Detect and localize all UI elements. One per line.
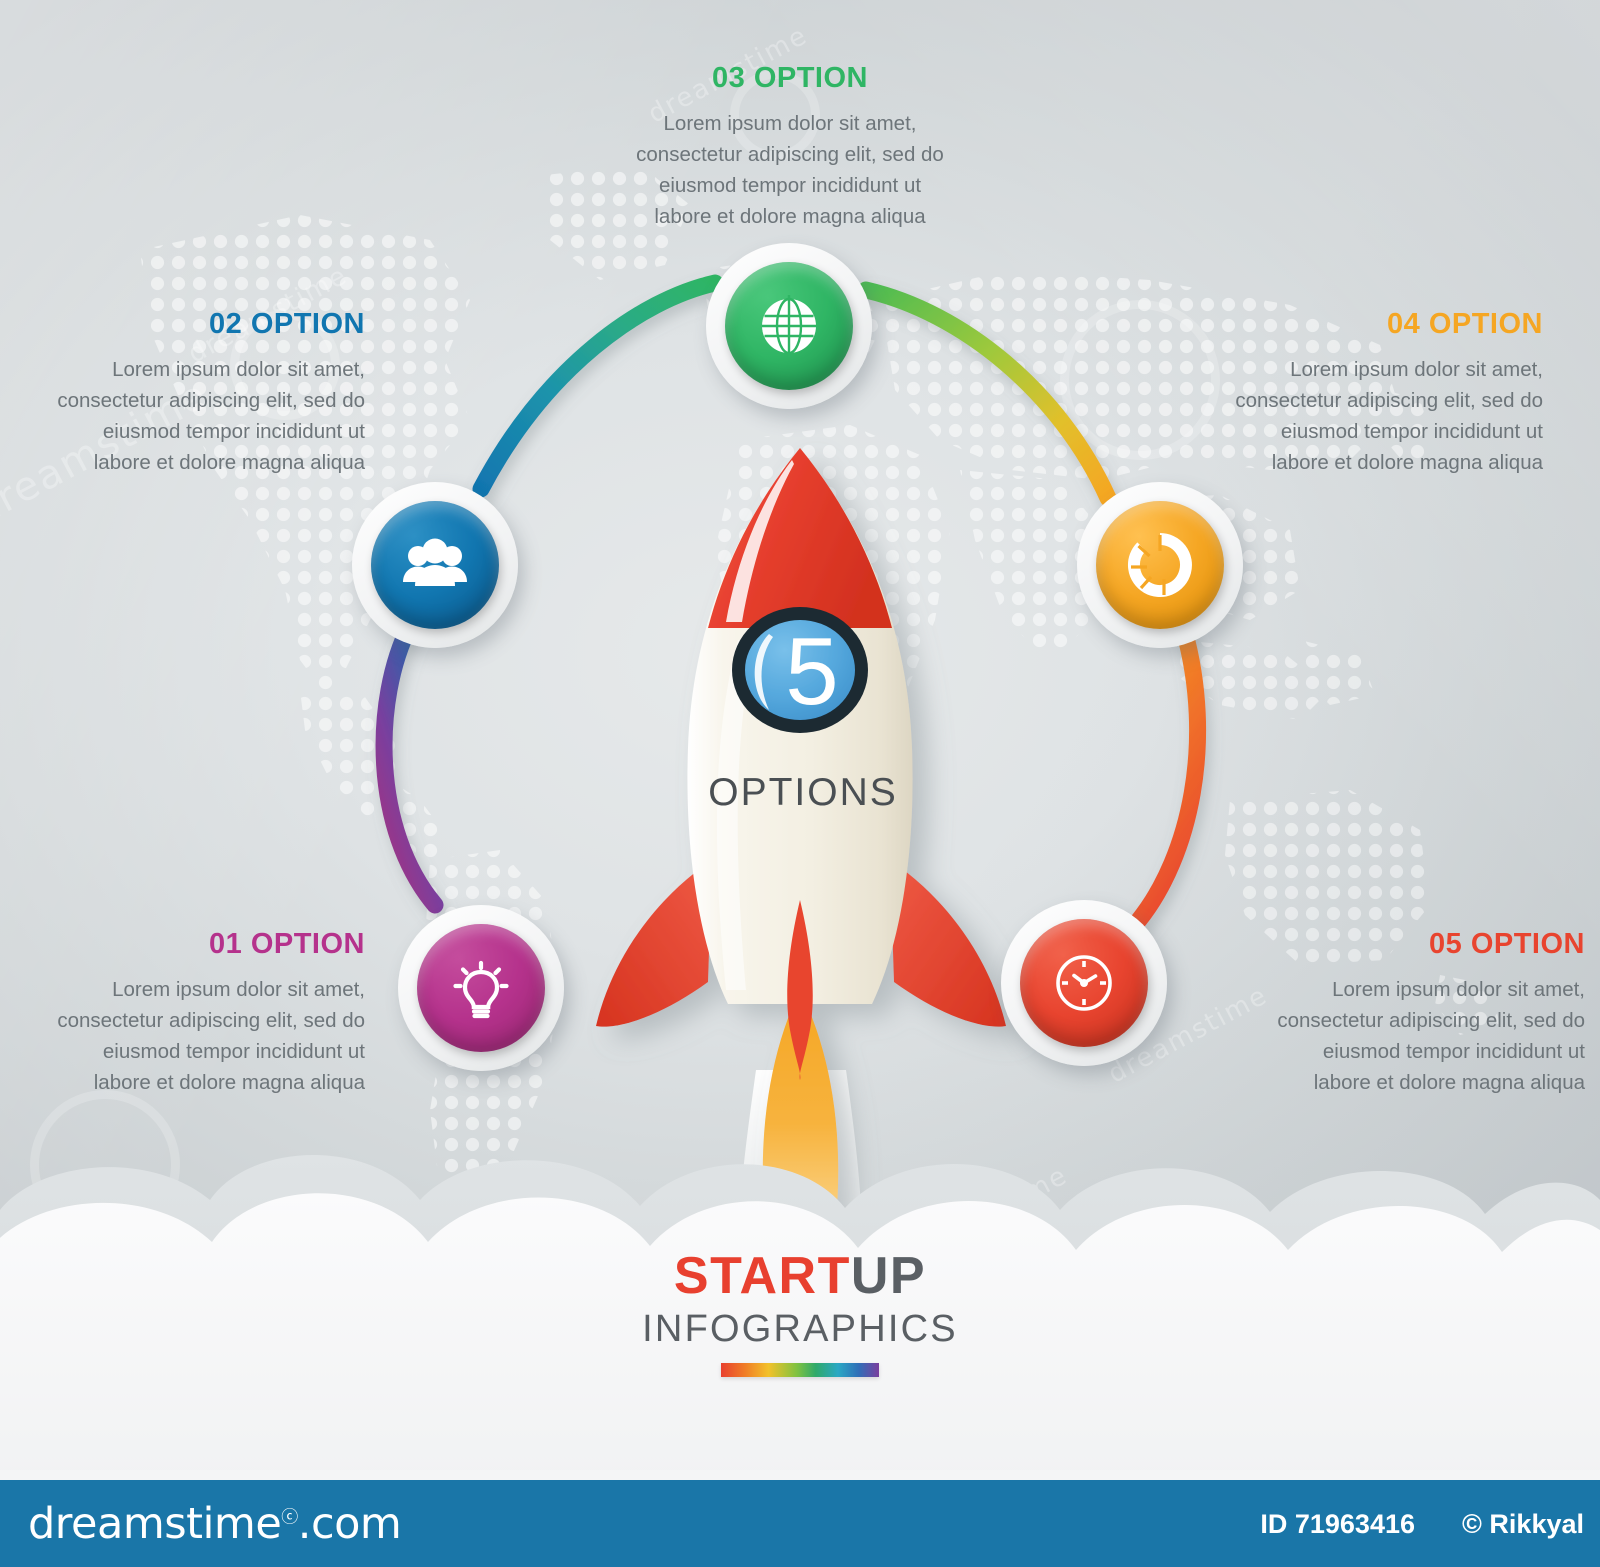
option-text-03: 03 OPTION Lorem ipsum dolor sit amet, co… bbox=[620, 62, 960, 232]
option-node-01-disc bbox=[417, 924, 545, 1052]
clock-icon bbox=[1047, 946, 1121, 1020]
brand-title: STARTUP bbox=[0, 1248, 1600, 1304]
body-line: Lorem ipsum dolor sit amet, bbox=[1235, 974, 1585, 1005]
rocket-fin-left bbox=[596, 860, 712, 1027]
donut-chart-icon bbox=[1123, 528, 1197, 602]
brand-title-start: START bbox=[674, 1247, 851, 1305]
image-id-label: ID 71963416 bbox=[1260, 1509, 1415, 1540]
option-title-01: 01 OPTION bbox=[15, 928, 365, 961]
option-node-04-disc bbox=[1096, 501, 1224, 629]
body-line: consectetur adipiscing elit, sed do bbox=[15, 1005, 365, 1036]
body-line: Lorem ipsum dolor sit amet, bbox=[1198, 354, 1543, 385]
lightbulb-icon bbox=[445, 952, 517, 1024]
body-line: labore et dolore magna aliqua bbox=[1198, 447, 1543, 478]
body-line: consectetur adipiscing elit, sed do bbox=[20, 385, 365, 416]
option-node-05-disc bbox=[1020, 919, 1148, 1047]
globe-icon bbox=[753, 290, 825, 362]
option-node-03-disc bbox=[725, 262, 853, 390]
body-line: consectetur adipiscing elit, sed do bbox=[1235, 1005, 1585, 1036]
option-node-04[interactable] bbox=[1077, 482, 1243, 648]
rocket-fin-right bbox=[890, 860, 1006, 1027]
option-title-03: 03 OPTION bbox=[620, 62, 960, 95]
option-body-04: Lorem ipsum dolor sit amet, consectetur … bbox=[1198, 354, 1543, 478]
people-icon bbox=[398, 528, 472, 602]
dreamstime-logo[interactable]: dreamstimeⓒ.com bbox=[28, 1499, 401, 1549]
option-body-03: Lorem ipsum dolor sit amet, consectetur … bbox=[620, 108, 960, 232]
option-title-02: 02 OPTION bbox=[20, 308, 365, 341]
body-line: Lorem ipsum dolor sit amet, bbox=[620, 108, 960, 139]
option-text-04: 04 OPTION Lorem ipsum dolor sit amet, co… bbox=[1198, 308, 1543, 478]
option-node-01[interactable] bbox=[398, 905, 564, 1071]
body-line: labore et dolore magna aliqua bbox=[620, 201, 960, 232]
body-line: eiusmod tempor incididunt ut bbox=[1198, 416, 1543, 447]
option-text-02: 02 OPTION Lorem ipsum dolor sit amet, co… bbox=[20, 308, 365, 478]
body-line: consectetur adipiscing elit, sed do bbox=[1198, 385, 1543, 416]
infographic-canvas: dreamstime dreamstime dreamstime dreamst… bbox=[0, 0, 1600, 1567]
footer-divider bbox=[0, 1470, 1600, 1480]
center-number: 5 bbox=[785, 618, 838, 725]
arc-01-to-02 bbox=[384, 625, 435, 905]
author-label: © Rikkyal bbox=[1462, 1509, 1584, 1540]
dreamstime-logo-name: dreamstime bbox=[28, 1499, 281, 1549]
brand-subtitle: INFOGRAPHICS bbox=[0, 1306, 1600, 1352]
center-label: OPTIONS bbox=[708, 771, 898, 814]
option-node-05[interactable] bbox=[1001, 900, 1167, 1066]
option-node-02[interactable] bbox=[352, 482, 518, 648]
brand-title-up: UP bbox=[851, 1247, 926, 1305]
arc-04-to-05 bbox=[1139, 630, 1198, 920]
rainbow-bar bbox=[721, 1363, 879, 1377]
option-node-03[interactable] bbox=[706, 243, 872, 409]
body-line: Lorem ipsum dolor sit amet, bbox=[20, 354, 365, 385]
body-line: consectetur adipiscing elit, sed do bbox=[620, 139, 960, 170]
dreamstime-logo-tld: .com bbox=[298, 1499, 402, 1549]
option-title-04: 04 OPTION bbox=[1198, 308, 1543, 341]
body-line: Lorem ipsum dolor sit amet, bbox=[15, 974, 365, 1005]
brand-block: STARTUP INFOGRAPHICS bbox=[0, 1248, 1600, 1377]
footer-bar: dreamstimeⓒ.com ID 71963416 © Rikkyal bbox=[0, 1480, 1600, 1567]
registered-icon: ⓒ bbox=[281, 1508, 298, 1528]
body-line: eiusmod tempor incididunt ut bbox=[620, 170, 960, 201]
option-node-02-disc bbox=[371, 501, 499, 629]
body-line: eiusmod tempor incididunt ut bbox=[20, 416, 365, 447]
option-title-05: 05 OPTION bbox=[1235, 928, 1585, 961]
option-body-02: Lorem ipsum dolor sit amet, consectetur … bbox=[20, 354, 365, 478]
body-line: labore et dolore magna aliqua bbox=[20, 447, 365, 478]
